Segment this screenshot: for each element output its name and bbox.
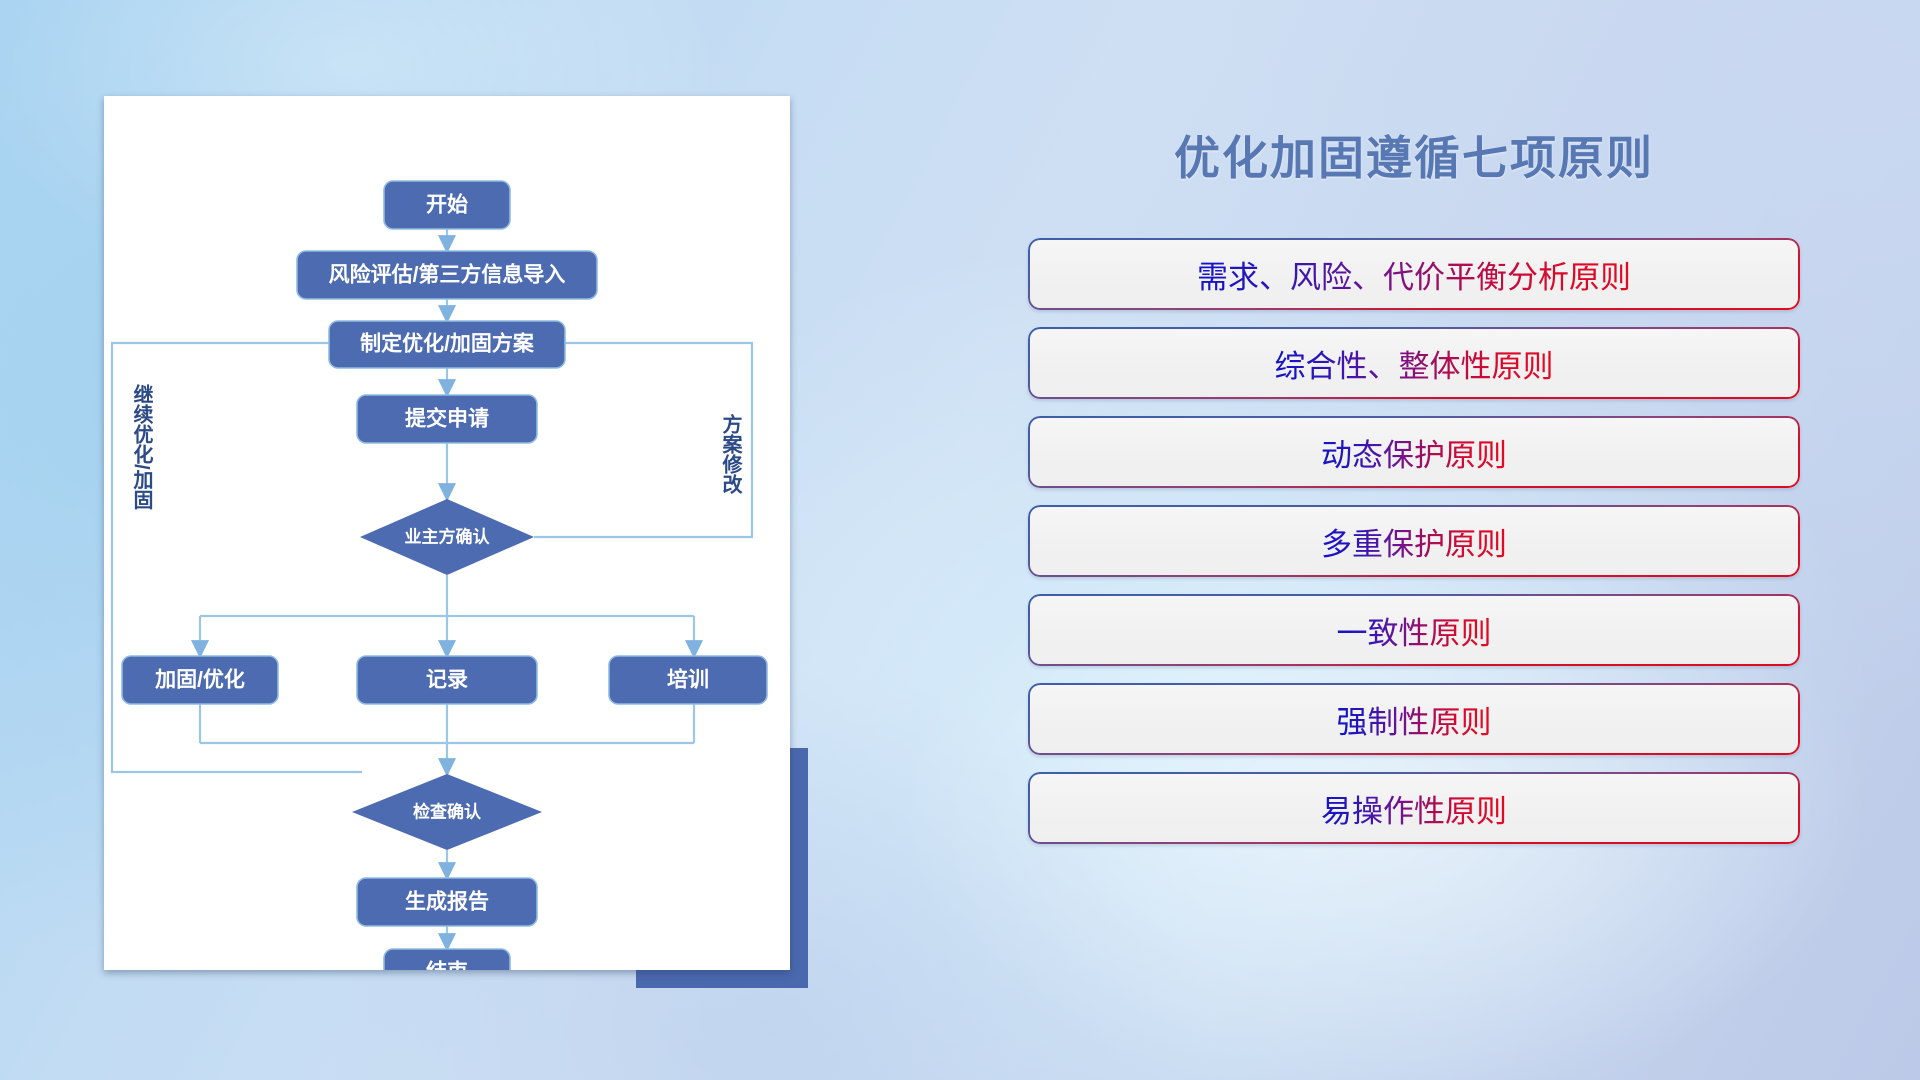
flow-node-end-label: 结束 [426, 960, 469, 970]
flow-node-training-label: 培训 [667, 668, 709, 692]
flow-node-owner-confirm[interactable]: 业主方确认 [360, 499, 534, 575]
principle-item-3-label: 动态保护原则 [1321, 430, 1507, 475]
flow-node-report[interactable]: 生成报告 [357, 878, 537, 926]
edge-label-left-loop: 继续优化/加固 [130, 383, 154, 510]
principles-panel-title: 优化加固遵循七项原则 [1028, 122, 1800, 188]
flow-node-reinforce[interactable]: 加固/优化 [122, 656, 278, 704]
flow-node-check-label: 检查确认 [413, 801, 482, 821]
principle-item-4-label: 多重保护原则 [1321, 519, 1507, 564]
flowchart-svg: 开始 风险评估/第三方信息导入 制定优化/加固方案 提交申请 业主方确认 加固/… [104, 96, 790, 970]
flow-node-reinforce-label: 加固/优化 [154, 668, 245, 692]
principles-panel: 优化加固遵循七项原则 需求、风险、代价平衡分析原则 综合性、整体性原则 动态保护… [1028, 100, 1800, 1020]
flow-node-start-label: 开始 [426, 193, 468, 217]
principle-item-1-label: 需求、风险、代价平衡分析原则 [1197, 252, 1631, 297]
flow-node-risk-label: 风险评估/第三方信息导入 [329, 263, 566, 287]
flow-node-record[interactable]: 记录 [357, 656, 537, 704]
flow-node-submit-label: 提交申请 [405, 407, 489, 431]
principle-item-4[interactable]: 多重保护原则 [1028, 505, 1800, 577]
flow-node-risk[interactable]: 风险评估/第三方信息导入 [297, 251, 597, 299]
principle-item-5[interactable]: 一致性原则 [1028, 594, 1800, 666]
principle-item-5-label: 一致性原则 [1337, 608, 1492, 653]
principle-item-6-label: 强制性原则 [1337, 697, 1492, 742]
principle-item-7-label: 易操作性原则 [1321, 786, 1507, 831]
principle-item-3[interactable]: 动态保护原则 [1028, 416, 1800, 488]
flow-node-report-label: 生成报告 [405, 890, 489, 914]
flow-node-record-label: 记录 [426, 669, 468, 692]
flow-node-end[interactable]: 结束 [384, 949, 510, 970]
principles-list: 需求、风险、代价平衡分析原则 综合性、整体性原则 动态保护原则 多重保护原则 一… [1028, 238, 1800, 861]
flow-node-submit[interactable]: 提交申请 [357, 395, 537, 443]
principle-item-1[interactable]: 需求、风险、代价平衡分析原则 [1028, 238, 1800, 310]
edge-label-right-loop: 方案修改 [719, 413, 743, 495]
flow-node-check[interactable]: 检查确认 [352, 774, 542, 850]
principle-item-2-label: 综合性、整体性原则 [1275, 341, 1554, 386]
flow-node-plan[interactable]: 制定优化/加固方案 [329, 321, 565, 368]
flow-node-owner-confirm-label: 业主方确认 [405, 526, 491, 546]
principle-item-2[interactable]: 综合性、整体性原则 [1028, 327, 1800, 399]
principle-item-7[interactable]: 易操作性原则 [1028, 772, 1800, 844]
flow-node-start[interactable]: 开始 [384, 181, 510, 229]
flowchart-card: 开始 风险评估/第三方信息导入 制定优化/加固方案 提交申请 业主方确认 加固/… [104, 96, 790, 970]
principle-item-6[interactable]: 强制性原则 [1028, 683, 1800, 755]
flow-node-plan-label: 制定优化/加固方案 [360, 332, 535, 356]
flow-node-training[interactable]: 培训 [609, 656, 767, 704]
